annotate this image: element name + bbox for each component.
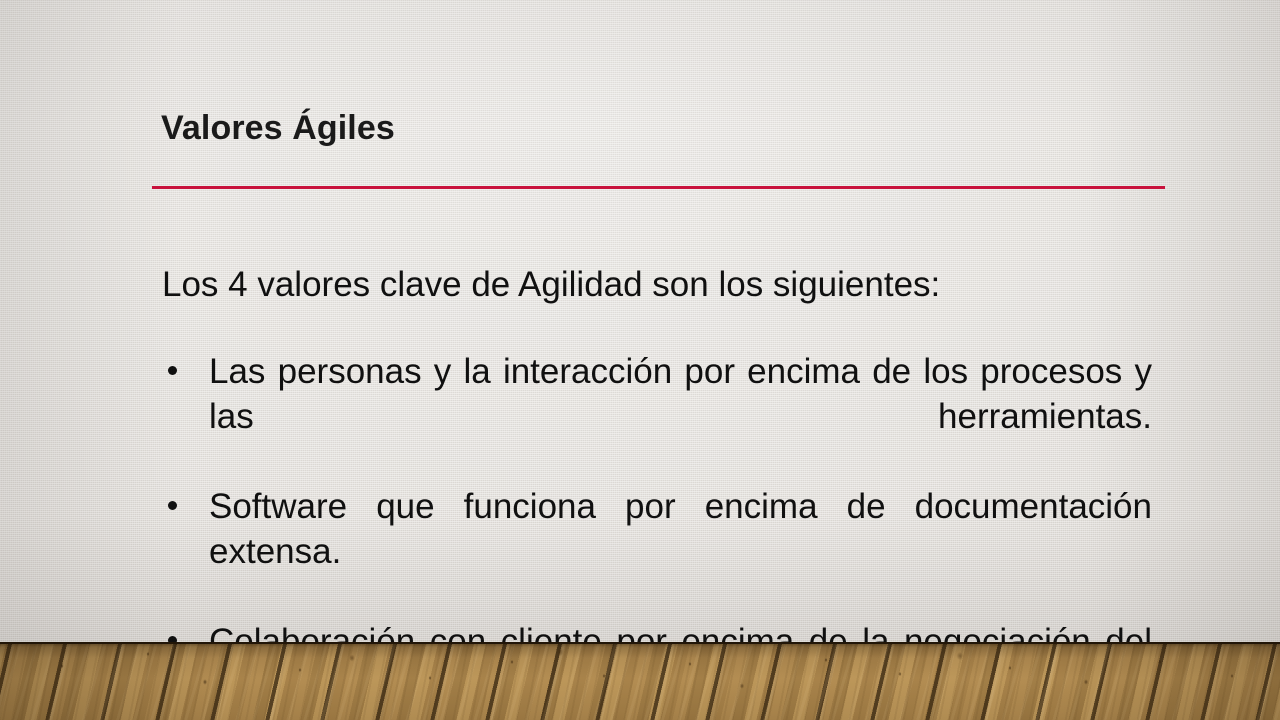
presentation-slide: Valores Ágiles Los 4 valores clave de Ag… [0, 0, 1280, 720]
title-divider-rule [152, 186, 1165, 189]
wooden-floor-decoration [0, 642, 1280, 720]
list-item-label: Software que funciona por encima de docu… [209, 487, 1152, 616]
page-title: Valores Ágiles [161, 109, 395, 148]
floor-top-edge [0, 642, 1280, 644]
list-item: Software que funciona por encima de docu… [162, 484, 1152, 619]
bullet-dot-icon [168, 501, 177, 510]
list-item-label: Las personas y la interacción por encima… [209, 352, 1152, 481]
list-item: Las personas y la interacción por encima… [162, 349, 1152, 484]
intro-text: Los 4 valores clave de Agilidad son los … [162, 263, 1152, 307]
floor-shading [0, 642, 1280, 720]
bullet-dot-icon [168, 366, 177, 375]
